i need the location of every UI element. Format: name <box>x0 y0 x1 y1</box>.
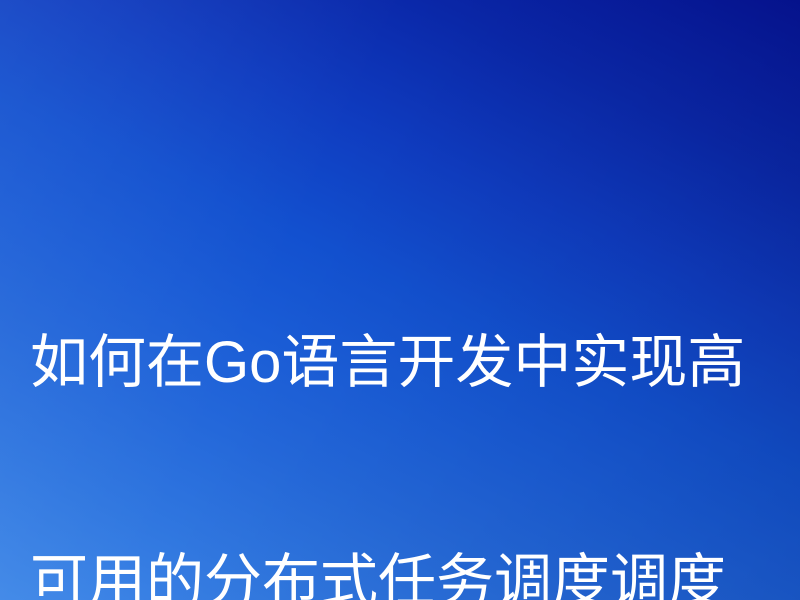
headline-line-2: 可用的分布式任务调度调度 <box>30 545 786 600</box>
headline-line-1: 如何在Go语言开发中实现高 <box>30 326 786 399</box>
title-card: 如何在Go语言开发中实现高 可用的分布式任务调度调度 系统 <box>0 0 800 600</box>
headline-text: 如何在Go语言开发中实现高 可用的分布式任务调度调度 系统 <box>30 180 786 600</box>
